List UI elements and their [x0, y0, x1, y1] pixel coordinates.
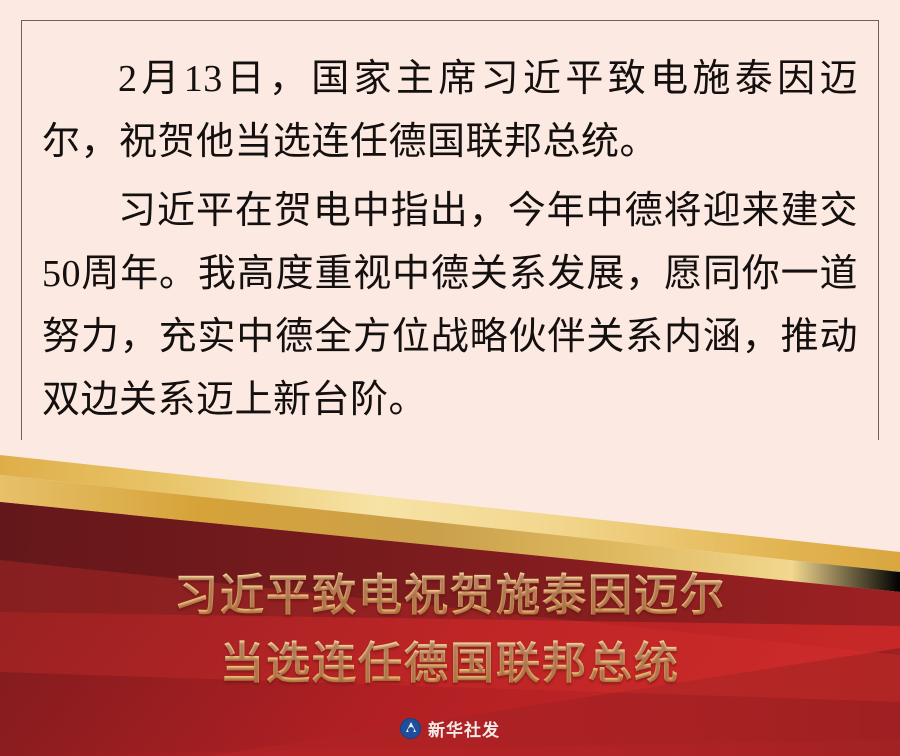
red-banner: [0, 440, 900, 756]
article-panel: 2月13日，国家主席习近平致电施泰因迈尔，祝贺他当选连任德国联邦总统。 习近平在…: [0, 0, 900, 470]
news-poster: 2月13日，国家主席习近平致电施泰因迈尔，祝贺他当选连任德国联邦总统。 习近平在…: [0, 0, 900, 756]
article-body: 2月13日，国家主席习近平致电施泰因迈尔，祝贺他当选连任德国联邦总统。 习近平在…: [42, 48, 858, 438]
article-paragraph-1: 2月13日，国家主席习近平致电施泰因迈尔，祝贺他当选连任德国联邦总统。: [42, 48, 858, 174]
xinhua-logo-icon: [400, 718, 421, 739]
agency-credit: 新华社发: [0, 716, 900, 741]
article-paragraph-2: 习近平在贺电中指出，今年中德将迎来建交50周年。我高度重视中德关系发展，愿同你一…: [42, 180, 858, 432]
banner-graphic: [0, 440, 900, 756]
agency-credit-text: 新华社发: [428, 716, 500, 741]
